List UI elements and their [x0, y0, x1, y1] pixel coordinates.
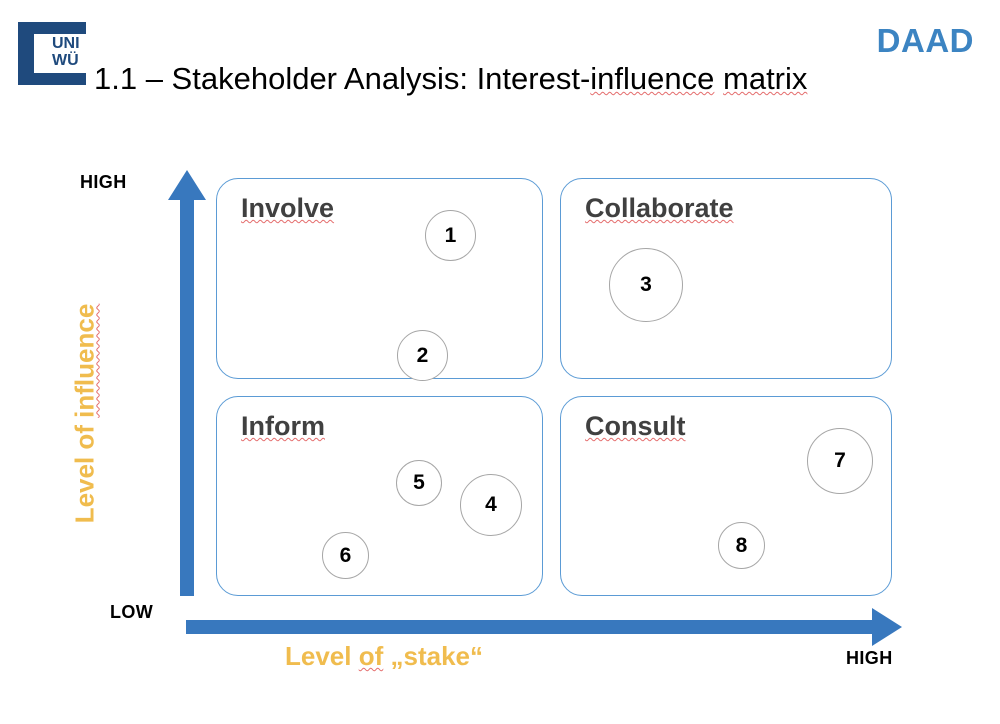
x-axis-title-prefix: Level — [285, 641, 359, 671]
page-title-space — [714, 61, 723, 96]
x-axis-high-label: HIGH — [846, 648, 893, 669]
stakeholder-bubble-3[interactable]: 3 — [609, 248, 683, 322]
logo-wordmark-line1: UNI — [52, 35, 80, 52]
stakeholder-bubble-8[interactable]: 8 — [718, 522, 765, 569]
x-axis-title: Level of „stake“ — [285, 641, 483, 672]
stakeholder-bubble-4[interactable]: 4 — [460, 474, 522, 536]
stakeholder-bubble-7[interactable]: 7 — [807, 428, 873, 494]
page-title-misspelled-matrix: matrix — [723, 61, 807, 96]
slide-canvas: UNIWÜ DAAD 1.1 – Stakeholder Analysis: I… — [0, 0, 1000, 724]
y-axis-high-label: HIGH — [80, 172, 127, 193]
logo-wordmark: UNIWÜ — [52, 35, 80, 69]
y-axis-low-label: LOW — [110, 602, 153, 623]
uni-wuerzburg-logo: UNIWÜ — [18, 22, 86, 85]
daad-logo: DAAD — [877, 22, 974, 60]
page-title: 1.1 – Stakeholder Analysis: Interest-inf… — [94, 61, 807, 97]
y-axis-title: Level of influence — [70, 264, 101, 564]
x-axis-title-misspelled-word: of — [359, 641, 384, 671]
page-title-misspelled-influence: influence — [590, 61, 714, 96]
quadrant-label-involve: Involve — [241, 193, 334, 224]
logo-wordmark-line2: WÜ — [52, 52, 79, 69]
y-axis-title-misspelled-word: influence — [70, 304, 100, 418]
stakeholder-bubble-6[interactable]: 6 — [322, 532, 369, 579]
quadrant-involve[interactable]: Involve — [216, 178, 543, 379]
y-axis-title-prefix: Level of — [70, 418, 100, 523]
x-axis-title-suffix: „stake“ — [383, 641, 483, 671]
page-title-prefix: 1.1 – Stakeholder Analysis: Interest- — [94, 61, 590, 96]
stakeholder-bubble-1[interactable]: 1 — [425, 210, 476, 261]
quadrant-label-inform: Inform — [241, 411, 325, 442]
quadrant-label-consult: Consult — [585, 411, 686, 442]
quadrant-consult[interactable]: Consult — [560, 396, 892, 596]
stakeholder-bubble-5[interactable]: 5 — [396, 460, 442, 506]
stakeholder-bubble-2[interactable]: 2 — [397, 330, 448, 381]
y-axis-arrow-icon — [168, 170, 206, 596]
quadrant-label-collaborate: Collaborate — [585, 193, 734, 224]
